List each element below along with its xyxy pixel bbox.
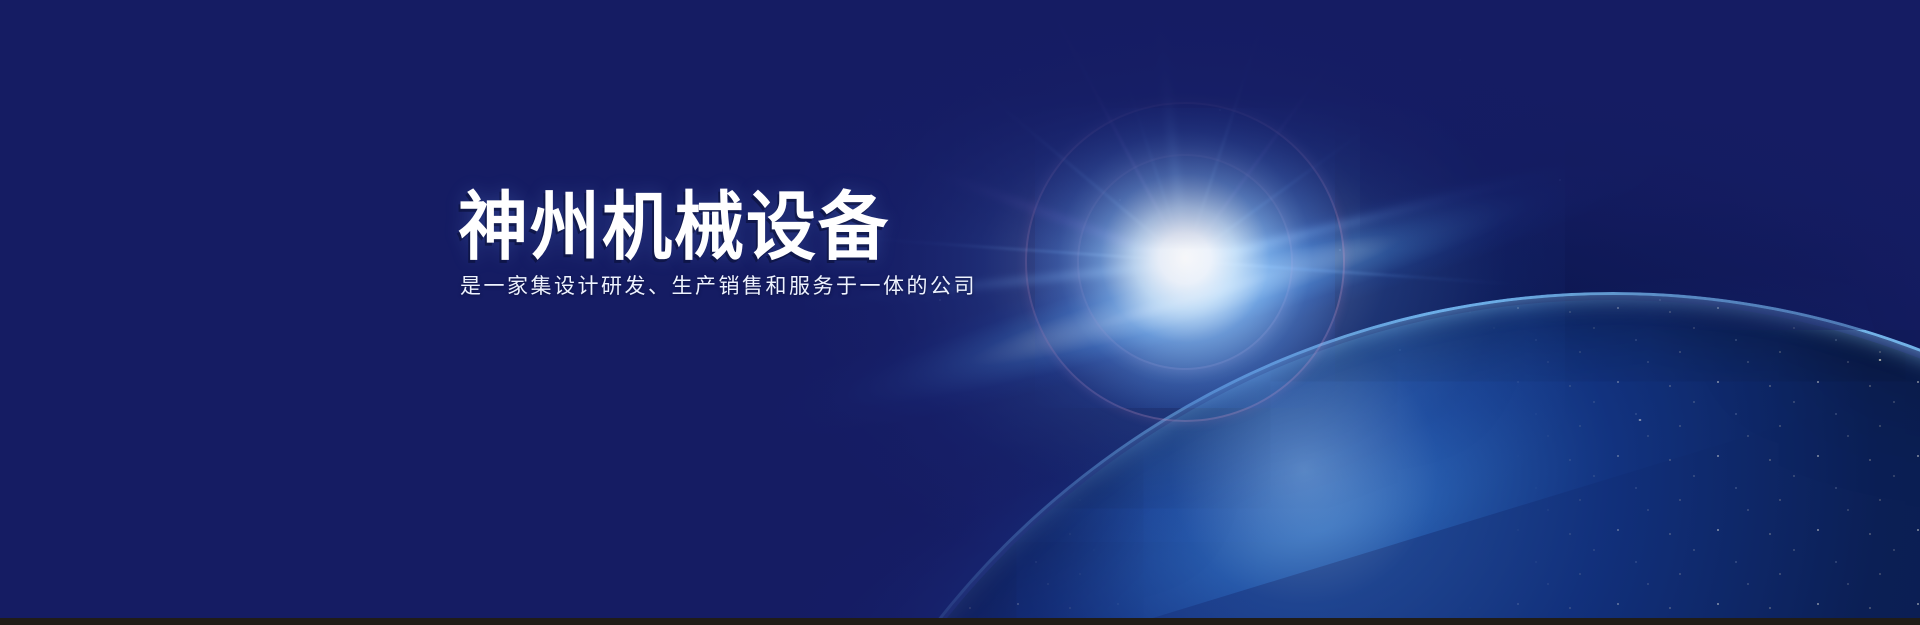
space-artwork (0, 0, 1920, 625)
hero-headline: 神州机械设备 (458, 190, 977, 264)
bottom-strip (0, 618, 1920, 625)
hero-banner: 神州机械设备 是一家集设计研发、生产销售和服务于一体的公司 (0, 0, 1920, 625)
hero-text-block: 神州机械设备 是一家集设计研发、生产销售和服务于一体的公司 (458, 190, 977, 299)
sunrise-core (1035, 108, 1335, 408)
hero-subheadline: 是一家集设计研发、生产销售和服务于一体的公司 (460, 274, 977, 299)
